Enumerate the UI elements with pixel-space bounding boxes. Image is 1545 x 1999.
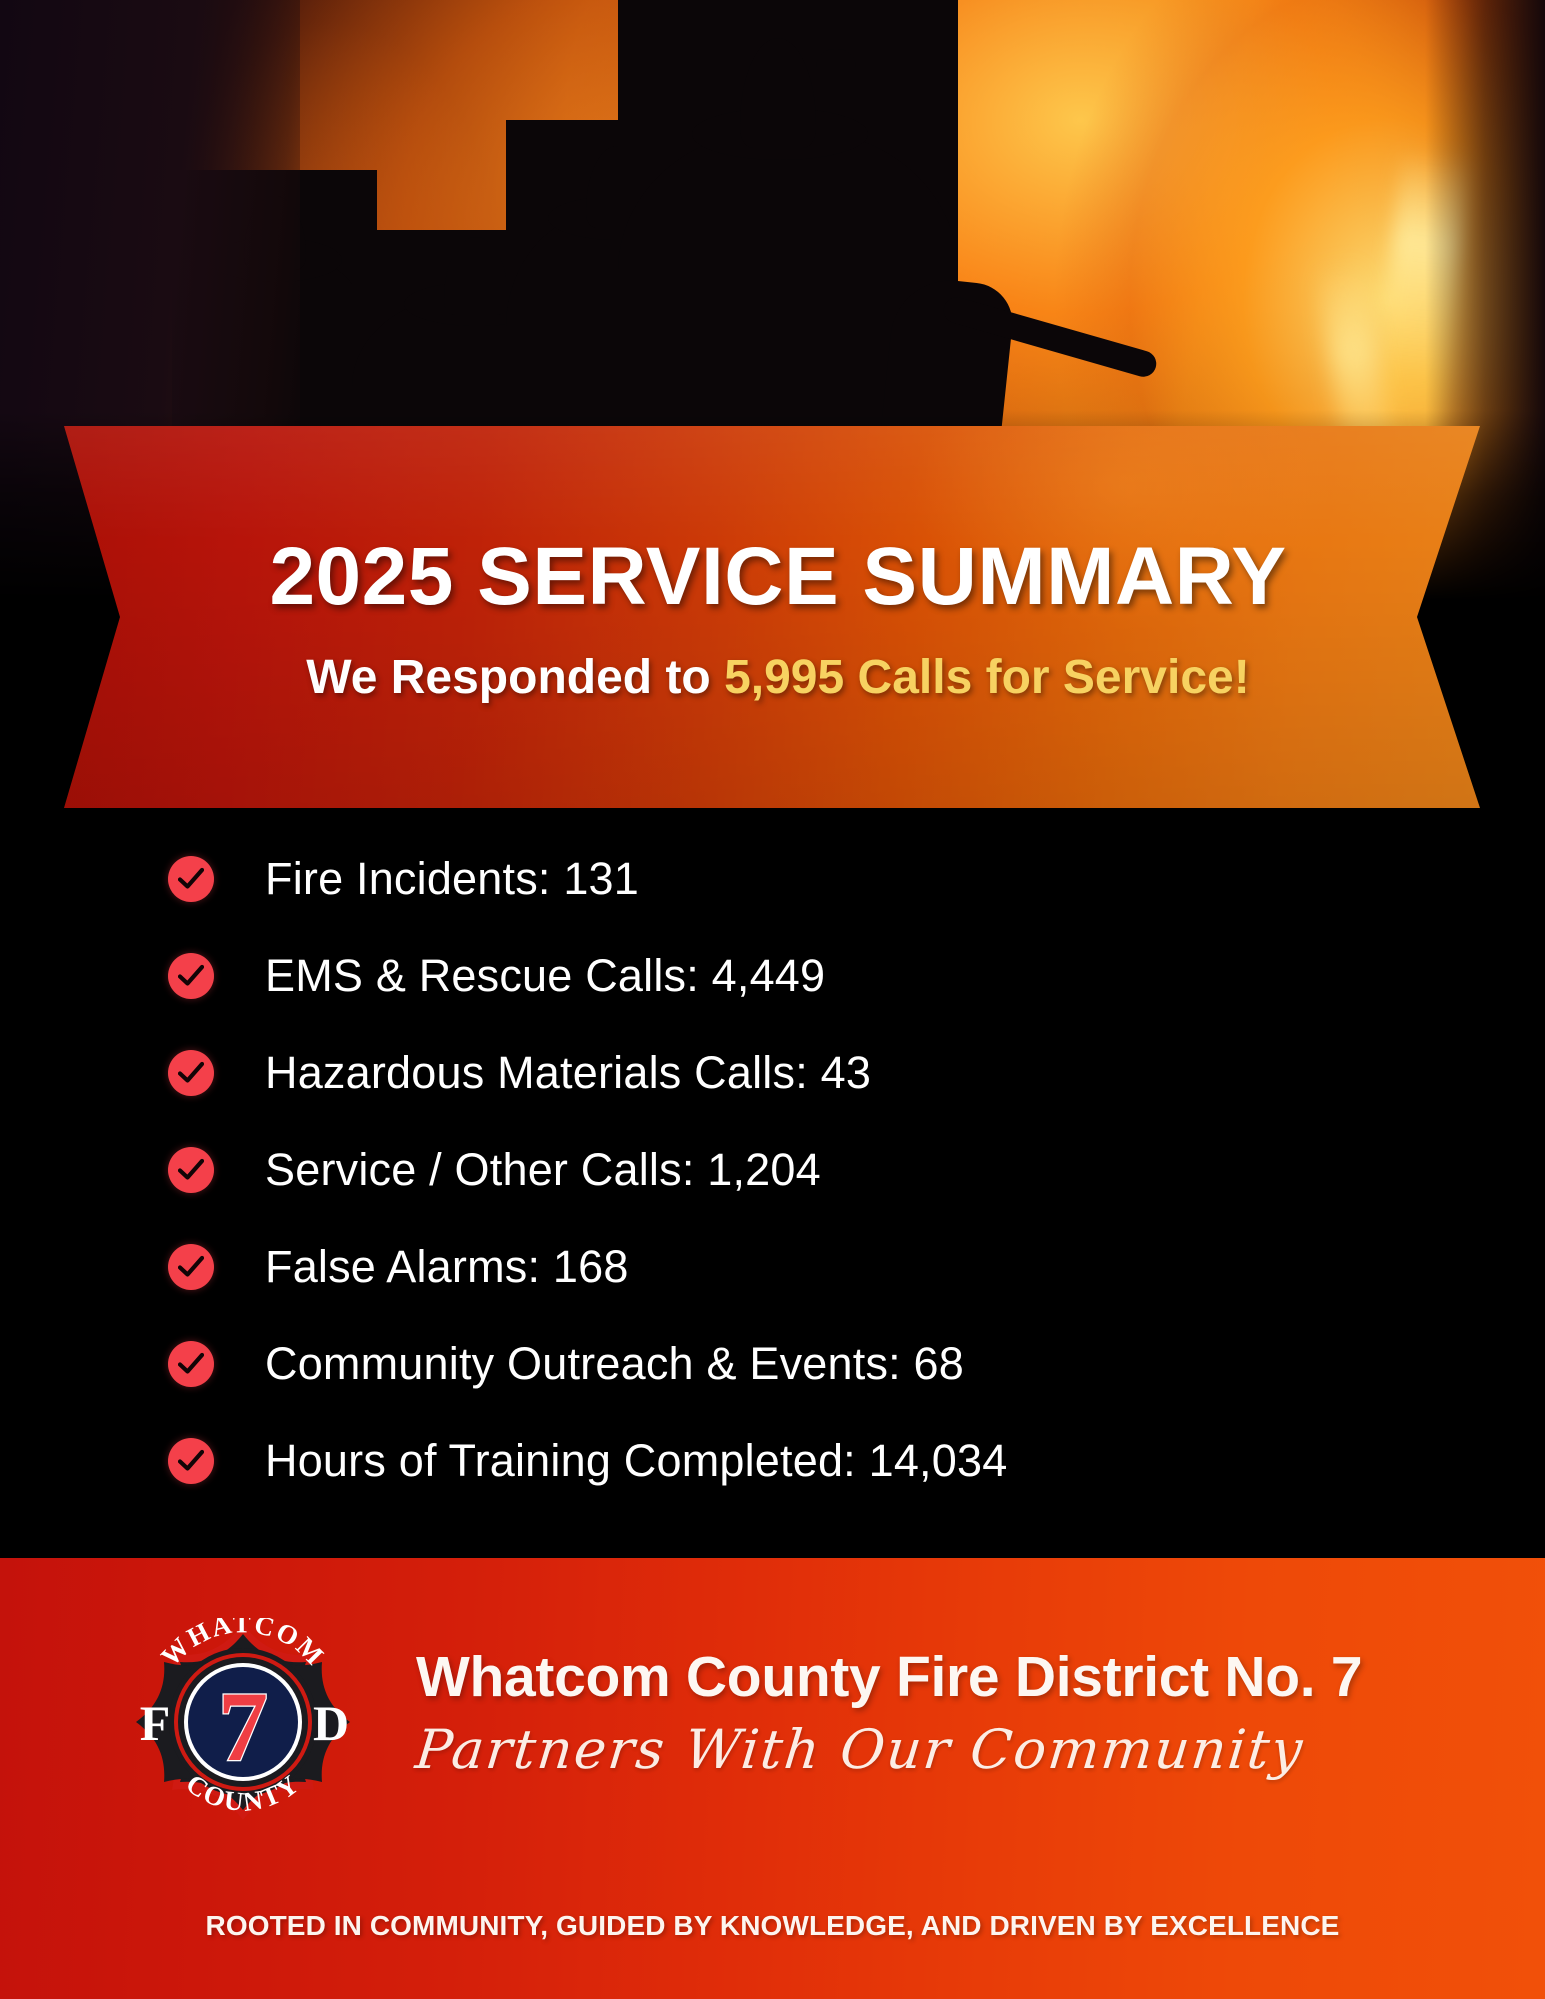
- footer-band: 7 F D WHATCOM COUNTY Whatcom County Fire…: [0, 1558, 1545, 1999]
- list-item: False Alarms: 168: [168, 1218, 1545, 1315]
- list-item-label: Hazardous Materials Calls: 43: [265, 1047, 871, 1099]
- check-circle-icon: [168, 1244, 214, 1290]
- banner-subtitle-prefix: We Responded to: [306, 651, 724, 704]
- check-circle-icon: [168, 1050, 214, 1096]
- list-item-label: EMS & Rescue Calls: 4,449: [265, 950, 825, 1002]
- check-circle-icon: [168, 1438, 214, 1484]
- list-item-label: Fire Incidents: 131: [265, 853, 639, 905]
- summary-banner: 2025 SERVICE SUMMARY We Responded to 5,9…: [42, 426, 1490, 808]
- district-motto: ROOTED IN COMMUNITY, GUIDED BY KNOWLEDGE…: [0, 1910, 1545, 1942]
- district-name: Whatcom County Fire District No. 7: [416, 1644, 1362, 1710]
- list-item-label: False Alarms: 168: [265, 1241, 629, 1293]
- list-item-label: Community Outreach & Events: 68: [265, 1338, 964, 1390]
- list-item: Hazardous Materials Calls: 43: [168, 1024, 1545, 1121]
- district-tagline: Partners With Our Community: [413, 1718, 1366, 1781]
- check-circle-icon: [168, 1147, 214, 1193]
- banner-subtitle-highlight: 5,995 Calls for Service!: [724, 651, 1250, 704]
- check-circle-icon: [168, 953, 214, 999]
- check-circle-icon: [168, 856, 214, 902]
- list-item: Fire Incidents: 131: [168, 830, 1545, 927]
- svg-text:D: D: [313, 1695, 349, 1751]
- banner-subtitle: We Responded to 5,995 Calls for Service!: [306, 650, 1249, 705]
- svg-text:7: 7: [218, 1671, 268, 1782]
- list-item: Community Outreach & Events: 68: [168, 1315, 1545, 1412]
- list-item: Service / Other Calls: 1,204: [168, 1121, 1545, 1218]
- list-item-label: Service / Other Calls: 1,204: [265, 1144, 821, 1196]
- list-item: Hours of Training Completed: 14,034: [168, 1412, 1545, 1509]
- check-circle-icon: [168, 1341, 214, 1387]
- list-item: EMS & Rescue Calls: 4,449: [168, 927, 1545, 1024]
- list-item-label: Hours of Training Completed: 14,034: [265, 1435, 1007, 1487]
- service-stats-list: Fire Incidents: 131 EMS & Rescue Calls: …: [0, 830, 1545, 1550]
- page-title: 2025 SERVICE SUMMARY: [269, 530, 1286, 624]
- fire-district-logo: 7 F D WHATCOM COUNTY: [118, 1618, 368, 1868]
- svg-text:F: F: [140, 1695, 171, 1751]
